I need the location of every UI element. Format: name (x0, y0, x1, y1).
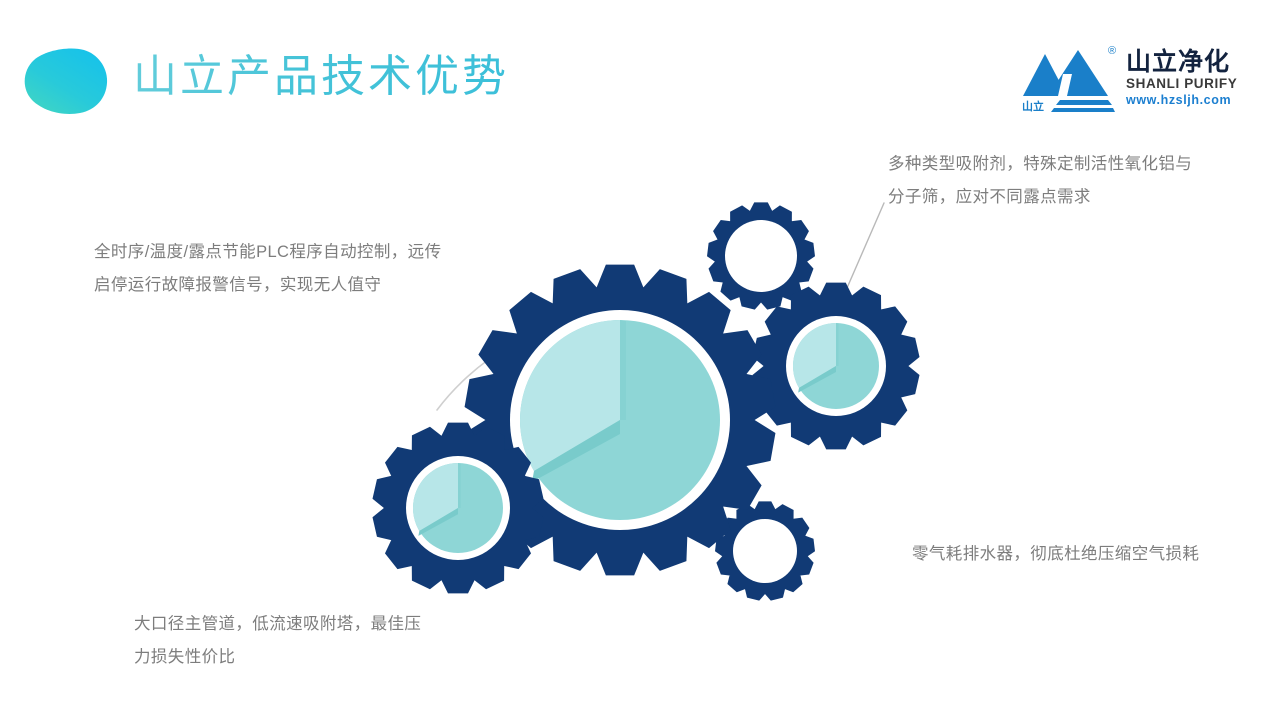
leader-line-left-top (437, 345, 512, 410)
callout-adsorbent-types: 多种类型吸附剂，特殊定制活性氧化铝与分子筛，应对不同露点需求 (888, 148, 1208, 214)
gear-right (752, 283, 919, 450)
logo-wordmark: 山立净化 SHANLI PURIFY www.hzsljh.com (1126, 50, 1252, 109)
callout-zero-air-loss-drain: 零气耗排水器，彻底杜绝压缩空气损耗 (912, 538, 1224, 571)
brand-logo: 山立 ® 山立净化 SHANLI PURIFY www.hzsljh.com (1020, 44, 1250, 116)
gear-main (465, 265, 776, 576)
gear-top-small (707, 202, 815, 309)
logo-website: www.hzsljh.com (1126, 93, 1252, 109)
logo-mark-label: 山立 (1022, 98, 1044, 114)
callout-plc-control: 全时序/温度/露点节能PLC程序自动控制，远传启停运行故障报警信号，实现无人值守 (94, 236, 442, 302)
title-blob-icon (22, 48, 108, 114)
callout-large-diameter-pipe: 大口径主管道，低流速吸附塔，最佳压力损失性价比 (134, 608, 434, 674)
gear-left (373, 423, 544, 594)
gear-bottom-small (715, 501, 815, 600)
registered-trademark-icon: ® (1108, 46, 1116, 57)
logo-company-cn: 山立净化 (1126, 50, 1252, 76)
page-title: 山立产品技术优势 (133, 52, 509, 103)
leader-line-right-top (820, 203, 884, 350)
logo-company-en: SHANLI PURIFY (1126, 76, 1252, 93)
slide-canvas: 山立产品技术优势 山立 ® 山立净化 SHANLI PURIFY www.hzs… (0, 0, 1280, 720)
